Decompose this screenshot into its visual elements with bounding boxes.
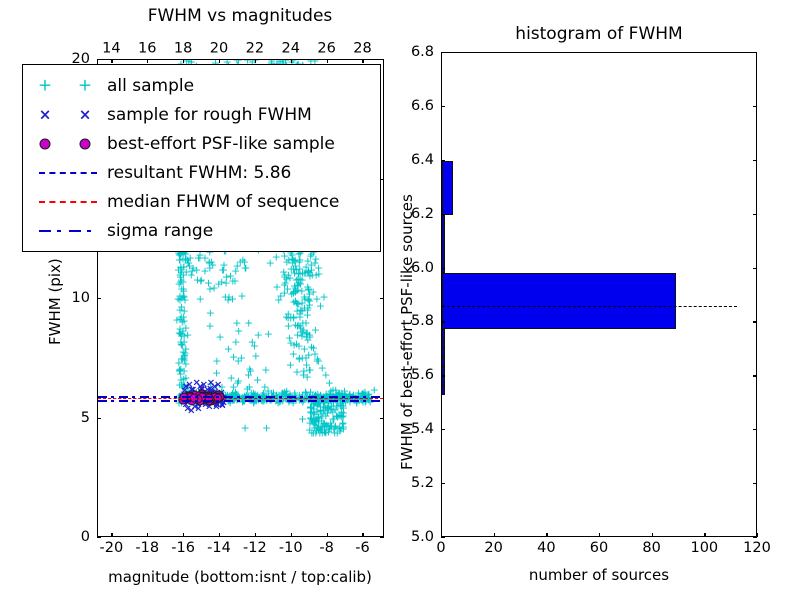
left-xtick-top-label: 16	[138, 42, 156, 57]
legend-item[interactable]: best-effort PSF-like sample	[31, 129, 370, 158]
legend-box[interactable]: ++all sample××sample for rough FWHMbest-…	[22, 64, 381, 252]
left-xtick-label: -8	[319, 541, 333, 556]
legend-marker-plus: ++	[31, 76, 107, 96]
legend-item[interactable]: ××sample for rough FWHM	[31, 100, 370, 129]
scatter-point-all-sample: +	[237, 292, 246, 299]
left-xtick-top-label: 22	[246, 42, 264, 57]
legend-glyph: ×	[79, 107, 92, 122]
left-xtick-label: -12	[243, 541, 267, 556]
legend-glyph	[80, 138, 91, 149]
scatter-point-all-sample: +	[307, 261, 316, 268]
scatter-point-all-sample: +	[319, 293, 328, 300]
scatter-point-all-sample: +	[304, 295, 313, 302]
right-xtick-label: 40	[537, 541, 555, 556]
right-ytick-label: 6.6	[411, 99, 434, 114]
scatter-point-all-sample: +	[192, 267, 201, 274]
legend-marker-dashed-line	[31, 163, 107, 183]
scatter-point-all-sample: +	[212, 370, 221, 377]
scatter-point-all-sample: +	[290, 341, 299, 348]
right-ytick-label: 5.0	[411, 530, 434, 545]
scatter-point-all-sample: +	[177, 303, 186, 310]
histogram-bar	[442, 348, 445, 357]
right-xtick-label: 0	[436, 541, 445, 556]
right-xaxis-label: number of sources	[529, 566, 669, 584]
scatter-point-all-sample: +	[184, 259, 193, 266]
figure-canvas: ++++++++++++++++++++++++++++++++++++++++…	[0, 0, 800, 600]
left-ytick-label: 5	[81, 410, 90, 425]
scatter-point-all-sample: +	[231, 268, 240, 275]
legend-glyph: ×	[39, 107, 52, 122]
scatter-point-all-sample: +	[262, 425, 271, 432]
scatter-point-all-sample: +	[316, 303, 325, 310]
legend-item[interactable]: sigma range	[31, 216, 370, 245]
scatter-point-all-sample: +	[264, 330, 273, 337]
left-ytick-label: 10	[72, 291, 90, 306]
right-xtick-label: 20	[484, 541, 502, 556]
scatter-point-all-sample: +	[302, 331, 311, 338]
scatter-point-all-sample: +	[214, 280, 223, 287]
histogram-bar	[442, 376, 445, 385]
left-panel-title: FWHM vs magnitudes	[148, 6, 333, 26]
scatter-point-all-sample: +	[310, 418, 319, 425]
scatter-point-all-sample: +	[175, 330, 184, 337]
legend-item[interactable]: resultant FWHM: 5.86	[31, 158, 370, 187]
left-xtick-label: -20	[100, 541, 124, 556]
left-xtick-label: -16	[171, 541, 195, 556]
legend-marker-dashdot-line	[31, 221, 107, 241]
histogram-bar	[442, 273, 676, 330]
legend-label: all sample	[107, 76, 194, 96]
legend-marker-dashed-line	[31, 192, 107, 212]
right-ytick-label: 6.8	[411, 45, 434, 60]
legend-label: sample for rough FWHM	[107, 105, 312, 125]
scatter-point-all-sample: +	[228, 296, 237, 303]
scatter-point-rough-fwhm: ×	[218, 402, 226, 409]
histogram-bar	[442, 161, 453, 215]
reference-line-median-fhwm-of-sequence	[98, 398, 383, 399]
scatter-point-all-sample: +	[272, 284, 281, 291]
scatter-point-all-sample: +	[231, 338, 240, 345]
right-ytick-label: 6.0	[411, 260, 434, 275]
scatter-point-all-sample: +	[206, 310, 215, 317]
scatter-point-all-sample: +	[212, 357, 221, 364]
scatter-point-all-sample: +	[244, 319, 253, 326]
scatter-point-all-sample: +	[303, 374, 312, 381]
legend-marker-cross: ××	[31, 105, 107, 125]
scatter-point-all-sample: +	[240, 425, 249, 432]
histogram-bar	[442, 386, 445, 395]
left-xtick-top-label: 28	[353, 42, 371, 57]
right-ytick-label: 5.2	[411, 476, 434, 491]
histogram-bar	[442, 329, 445, 338]
right-xtick-label: 100	[690, 541, 718, 556]
left-xtick-top-label: 24	[281, 42, 299, 57]
scatter-point-all-sample: +	[335, 412, 344, 419]
scatter-point-all-sample: +	[313, 355, 322, 362]
left-ytick-label: 0	[81, 530, 90, 545]
scatter-point-all-sample: +	[237, 354, 246, 361]
reference-line-sigma-range-lower	[98, 400, 383, 402]
right-ytick-label: 5.4	[411, 422, 434, 437]
histogram-plot-area	[442, 53, 756, 536]
scatter-point-all-sample: +	[195, 252, 204, 259]
scatter-point-all-sample: +	[196, 296, 205, 303]
right-ytick-label: 5.8	[411, 314, 434, 329]
scatter-point-all-sample: +	[292, 368, 301, 375]
legend-glyph: +	[78, 77, 92, 94]
scatter-point-all-sample: +	[234, 377, 243, 384]
right-xtick-label: 60	[590, 541, 608, 556]
reference-line-sigma-range-upper	[98, 396, 383, 398]
left-yaxis-label: FWHM (pix)	[46, 258, 64, 345]
right-ytick-label: 5.6	[411, 368, 434, 383]
scatter-point-all-sample: +	[295, 355, 304, 362]
scatter-point-all-sample: +	[245, 365, 254, 372]
right-ytick-label: 6.4	[411, 153, 434, 168]
right-ytick-label: 6.2	[411, 206, 434, 221]
scatter-point-all-sample: +	[205, 264, 214, 271]
left-xtick-top-label: 18	[174, 42, 192, 57]
scatter-point-all-sample: +	[295, 257, 304, 264]
scatter-point-all-sample: +	[291, 287, 300, 294]
histogram-bar	[442, 339, 445, 348]
histogram-axes[interactable]	[441, 52, 757, 537]
scatter-point-all-sample: +	[228, 277, 237, 284]
scatter-point-all-sample: +	[180, 354, 189, 361]
scatter-point-all-sample: +	[261, 366, 270, 373]
scatter-point-all-sample: +	[245, 383, 254, 390]
left-xtick-label: -6	[355, 541, 369, 556]
scatter-point-all-sample: +	[251, 353, 260, 360]
legend-label: sigma range	[107, 221, 213, 241]
legend-label: best-effort PSF-like sample	[107, 134, 335, 154]
left-xtick-label: -10	[279, 541, 303, 556]
left-xaxis-label: magnitude (bottom:isnt / top:calib)	[108, 568, 372, 586]
legend-item[interactable]: ++all sample	[31, 71, 370, 100]
legend-glyph	[39, 230, 97, 232]
scatter-point-all-sample: +	[284, 310, 293, 317]
left-xtick-label: -14	[207, 541, 231, 556]
scatter-point-all-sample: +	[289, 298, 298, 305]
left-xtick-top-label: 20	[210, 42, 228, 57]
scatter-point-all-sample: +	[327, 422, 336, 429]
legend-item[interactable]: median FHWM of sequence	[31, 187, 370, 216]
legend-glyph	[40, 138, 51, 149]
right-panel-title: histogram of FWHM	[515, 24, 682, 44]
legend-glyph: +	[38, 77, 52, 94]
left-xtick-top-label: 14	[102, 42, 120, 57]
scatter-point-all-sample: +	[293, 322, 302, 329]
scatter-point-all-sample: +	[177, 340, 186, 347]
scatter-point-all-sample: +	[205, 323, 214, 330]
scatter-point-all-sample: +	[177, 314, 186, 321]
right-xtick-label: 120	[743, 541, 771, 556]
scatter-point-all-sample: +	[216, 334, 225, 341]
scatter-point-all-sample: +	[232, 319, 241, 326]
scatter-point-all-sample: +	[311, 326, 320, 333]
legend-glyph	[39, 201, 97, 203]
left-xtick-top-label: 26	[317, 42, 335, 57]
histogram-bar	[442, 357, 445, 366]
right-xtick-label: 80	[642, 541, 660, 556]
scatter-point-all-sample: +	[250, 343, 259, 350]
legend-label: resultant FWHM: 5.86	[107, 163, 291, 183]
legend-marker-dot	[31, 134, 107, 154]
legend-glyph	[39, 172, 97, 174]
legend-label: median FHWM of sequence	[107, 192, 339, 212]
scatter-point-all-sample: +	[254, 332, 263, 339]
histogram-resultant-fwhm-line	[442, 306, 737, 307]
histogram-bar	[442, 215, 445, 273]
left-xtick-label: -18	[135, 541, 159, 556]
scatter-point-all-sample: +	[303, 305, 312, 312]
